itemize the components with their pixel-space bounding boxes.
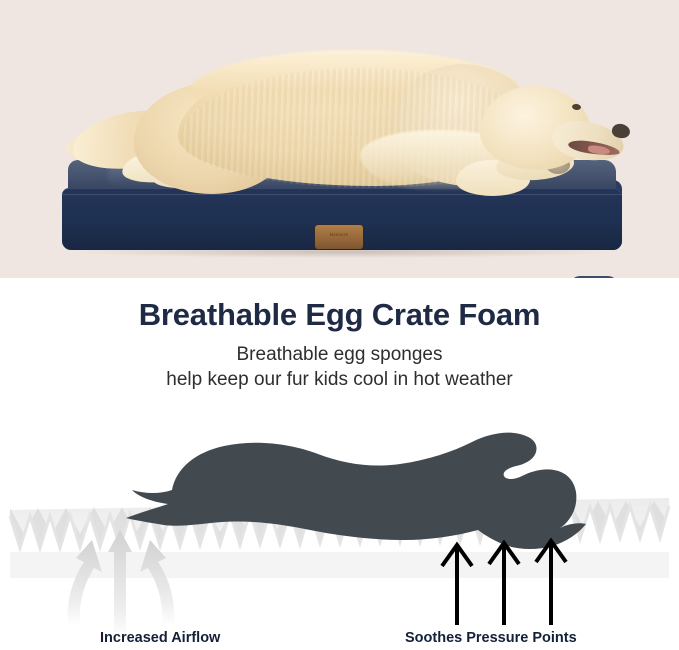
foam-base-bottom (10, 552, 669, 578)
brand-logo-patch: Bedsure (315, 225, 363, 249)
pressure-arrow-1 (442, 545, 472, 625)
foam-diagram-section (0, 412, 679, 650)
hero-photo-section: Bedsure (0, 0, 679, 278)
headline-section: Breathable Egg Crate Foam Breathable egg… (0, 278, 679, 412)
airflow-arrow-center (108, 530, 132, 640)
golden-retriever-photo (60, 38, 630, 208)
brand-logo-text: Bedsure (315, 233, 363, 238)
subtitle-line-2: help keep our fur kids cool in hot weath… (0, 367, 679, 392)
pressure-arrow-2 (489, 543, 519, 625)
caption-increased-airflow: Increased Airflow (100, 630, 220, 646)
hero-photo-stage: Bedsure (0, 0, 679, 278)
page-title: Breathable Egg Crate Foam (0, 278, 679, 333)
subtitle-line-1: Breathable egg sponges (0, 333, 679, 367)
product-infographic: Bedsure (0, 0, 679, 650)
pressure-arrow-3 (536, 541, 566, 625)
caption-soothes-pressure-points: Soothes Pressure Points (405, 630, 577, 646)
foam-cross-section-diagram (0, 412, 679, 650)
